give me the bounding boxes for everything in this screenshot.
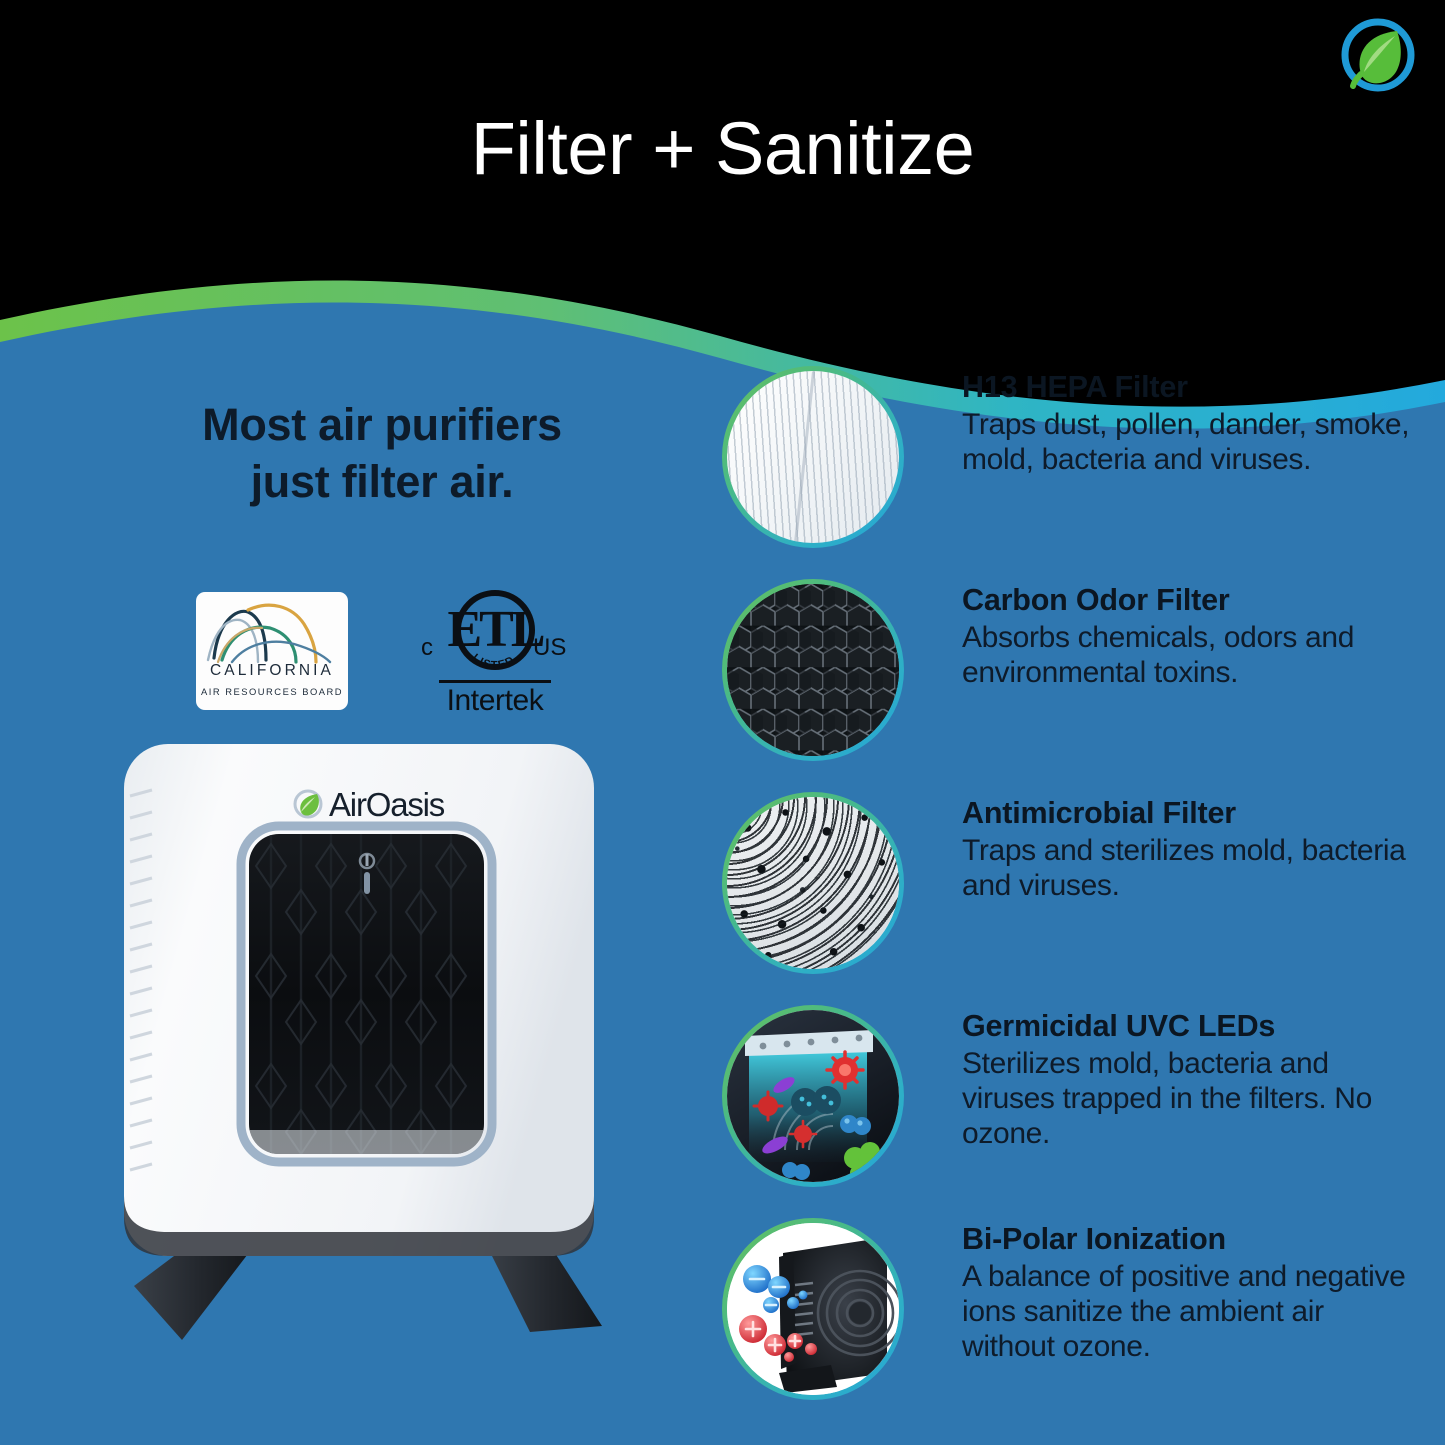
feature-list: H13 HEPA Filter Traps dust, pollen, dand… xyxy=(722,366,1422,1431)
feature-title: Germicidal UVC LEDs xyxy=(962,1009,1417,1043)
carb-label-line-1: CALIFORNIA xyxy=(196,662,348,680)
feature-title: Antimicrobial Filter xyxy=(962,796,1417,830)
etl-canada-label: c xyxy=(421,634,433,662)
svg-text:ETL: ETL xyxy=(447,601,543,658)
feature-item: Bi-Polar Ionization A balance of positiv… xyxy=(722,1218,1422,1431)
feature-item: H13 HEPA Filter Traps dust, pollen, dand… xyxy=(722,366,1422,579)
carbon-filter-photo xyxy=(722,579,904,761)
etl-divider xyxy=(439,680,551,683)
feature-title: H13 HEPA Filter xyxy=(962,370,1417,404)
infographic-root: Filter + Sanitize Most air purifiers jus… xyxy=(0,0,1445,1445)
page-title: Filter + Sanitize xyxy=(0,112,1445,186)
leaf-in-circle-logo xyxy=(1337,14,1419,96)
air-purifier-product-image: AirOasis xyxy=(86,726,726,1426)
feature-description: Traps and sterilizes mold, bacteria and … xyxy=(962,833,1417,903)
headline-line-2: just filter air. xyxy=(92,453,672,510)
feature-description: Sterilizes mold, bacteria and viruses tr… xyxy=(962,1046,1417,1151)
feature-description: Absorbs chemicals, odors and environment… xyxy=(962,620,1417,690)
etl-intertek-badge: ETL LISTED c US Intertek xyxy=(415,590,575,716)
feature-item: Antimicrobial Filter Traps and sterilize… xyxy=(722,792,1422,1005)
feature-item: Carbon Odor Filter Absorbs chemicals, od… xyxy=(722,579,1422,792)
product-brand-name: AirOasis xyxy=(329,788,444,821)
feature-title: Carbon Odor Filter xyxy=(962,583,1417,617)
feature-item: Germicidal UVC LEDs Sterilizes mold, bac… xyxy=(722,1005,1422,1218)
headline-line-1: Most air purifiers xyxy=(92,396,672,453)
feature-description: Traps dust, pollen, dander, smoke, mold,… xyxy=(962,407,1417,477)
uvc-led-illustration xyxy=(722,1005,904,1187)
feature-description: A balance of positive and negative ions … xyxy=(962,1259,1417,1364)
etl-us-label: US xyxy=(533,634,566,662)
carb-label-line-2: AIR RESOURCES BOARD xyxy=(196,686,348,697)
etl-mark-icon: ETL LISTED xyxy=(415,590,575,676)
antimicrobial-filter-photo xyxy=(722,792,904,974)
certification-badges: CALIFORNIA AIR RESOURCES BOARD ETL LISTE… xyxy=(196,592,576,718)
carb-badge: CALIFORNIA AIR RESOURCES BOARD xyxy=(196,592,348,710)
hepa-filter-photo xyxy=(722,366,904,548)
bipolar-ionization-illustration xyxy=(722,1218,904,1400)
feature-title: Bi-Polar Ionization xyxy=(962,1222,1417,1256)
left-headline: Most air purifiers just filter air. xyxy=(92,396,672,510)
air-oasis-leaf-icon xyxy=(291,787,325,821)
product-brand-logo: AirOasis xyxy=(291,784,491,824)
intertek-label: Intertek xyxy=(415,684,575,718)
